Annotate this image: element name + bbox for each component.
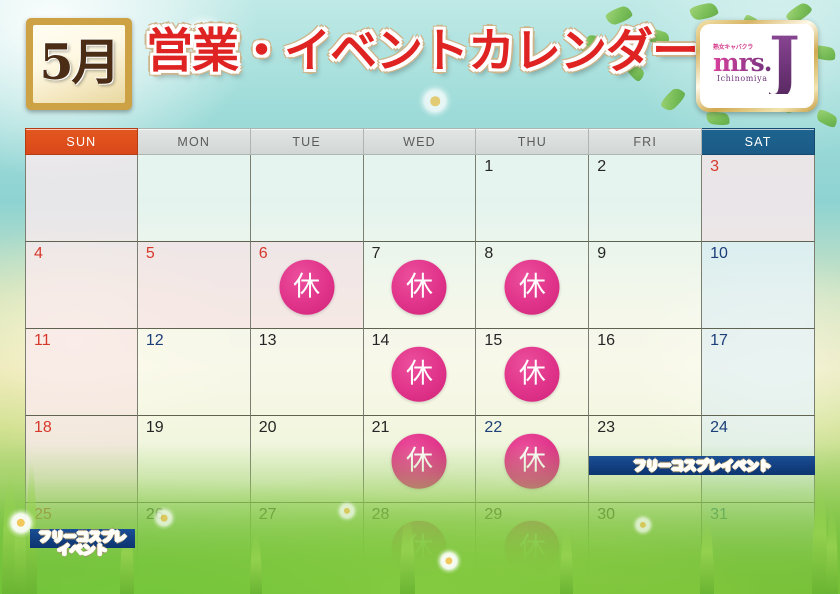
closed-day-badge: 休 xyxy=(505,260,560,315)
calendar-day-9[interactable]: 9 xyxy=(589,242,702,329)
logo-city-label: Ichinomiya xyxy=(713,74,771,83)
calendar-day-12[interactable]: 12 xyxy=(138,329,251,416)
day-number: 22 xyxy=(484,420,502,436)
logo-wordmark: mrs. xyxy=(713,51,771,75)
day-number: 23 xyxy=(597,420,615,436)
brand-logo[interactable]: J 熟女キャバクラ mrs. Ichinomiya xyxy=(696,20,818,112)
day-number: 14 xyxy=(372,333,390,349)
weekday-header-tue: TUE xyxy=(251,128,364,155)
event-banner[interactable]: フリーコスプレイベント xyxy=(589,456,815,475)
event-banner-label-line2: イベント xyxy=(30,543,135,556)
calendar-day-6[interactable]: 6休 xyxy=(251,242,364,329)
calendar-day-10[interactable]: 10 xyxy=(702,242,815,329)
weekday-header-fri: FRI xyxy=(589,128,702,155)
calendar-day-8[interactable]: 8休 xyxy=(476,242,589,329)
closed-day-badge: 休 xyxy=(392,260,447,315)
calendar-day-5[interactable]: 5 xyxy=(138,242,251,329)
calendar-day-3[interactable]: 3 xyxy=(702,155,815,242)
day-number: 10 xyxy=(710,246,728,262)
daisy-flower xyxy=(436,548,462,574)
weekday-header-mon: MON xyxy=(138,128,251,155)
calendar-day-13[interactable]: 13 xyxy=(251,329,364,416)
day-number: 6 xyxy=(259,246,268,262)
event-banner-label: フリーコスプレイベント xyxy=(634,459,772,472)
day-number: 16 xyxy=(597,333,615,349)
weekday-header-wed: WED xyxy=(364,128,477,155)
day-number: 20 xyxy=(259,420,277,436)
day-number: 8 xyxy=(484,246,493,262)
closed-day-badge: 休 xyxy=(392,347,447,402)
day-number: 7 xyxy=(372,246,381,262)
calendar-day-17[interactable]: 17 xyxy=(702,329,815,416)
calendar-day-15[interactable]: 15休 xyxy=(476,329,589,416)
header: 5月 営業・イベントカレンダー J 熟女キャバクラ mrs. Ichinomiy… xyxy=(0,0,840,130)
calendar-day-empty xyxy=(251,155,364,242)
weekday-header-thu: THU xyxy=(476,128,589,155)
daisy-flower xyxy=(632,514,654,536)
calendar-day-7[interactable]: 7休 xyxy=(364,242,477,329)
day-number: 19 xyxy=(146,420,164,436)
day-number: 2 xyxy=(597,159,606,175)
day-number: 24 xyxy=(710,420,728,436)
calendar-day-2[interactable]: 2 xyxy=(589,155,702,242)
calendar-page: 5月 営業・イベントカレンダー J 熟女キャバクラ mrs. Ichinomiy… xyxy=(0,0,840,594)
closed-day-badge: 休 xyxy=(279,260,334,315)
logo-initial-j: J xyxy=(769,28,800,94)
month-badge: 5月 xyxy=(26,18,132,110)
weekday-header-sat: SAT xyxy=(702,128,815,155)
calendar-day-empty xyxy=(138,155,251,242)
day-number: 15 xyxy=(484,333,502,349)
calendar-day-empty xyxy=(25,155,138,242)
day-number: 3 xyxy=(710,159,719,175)
day-number: 4 xyxy=(34,246,43,262)
closed-day-label: 休 xyxy=(293,274,320,301)
day-number: 11 xyxy=(34,333,51,349)
calendar-day-4[interactable]: 4 xyxy=(25,242,138,329)
day-number: 1 xyxy=(484,159,493,175)
day-number: 5 xyxy=(146,246,155,262)
closed-day-label: 休 xyxy=(519,361,546,388)
daisy-flower xyxy=(152,506,176,530)
event-banner-label: フリーコスプレイベント xyxy=(30,530,135,556)
daisy-flower xyxy=(336,500,358,522)
day-number: 9 xyxy=(597,246,606,262)
closed-day-label: 休 xyxy=(406,361,433,388)
calendar-day-11[interactable]: 11 xyxy=(25,329,138,416)
page-title: 営業・イベントカレンダー xyxy=(146,26,698,78)
day-number: 18 xyxy=(34,420,52,436)
event-banner[interactable]: フリーコスプレイベント xyxy=(30,529,135,548)
calendar-day-14[interactable]: 14休 xyxy=(364,329,477,416)
month-label: 5月 xyxy=(39,38,118,91)
calendar-day-empty xyxy=(364,155,477,242)
day-number: 21 xyxy=(372,420,390,436)
day-number: 17 xyxy=(710,333,728,349)
calendar-day-16[interactable]: 16 xyxy=(589,329,702,416)
day-number: 13 xyxy=(259,333,277,349)
calendar-day-1[interactable]: 1 xyxy=(476,155,589,242)
weekday-header-row: SUN MON TUE WED THU FRI SAT xyxy=(25,128,815,155)
closed-day-badge: 休 xyxy=(505,347,560,402)
weekday-header-sun: SUN xyxy=(25,128,138,155)
day-number: 12 xyxy=(146,333,164,349)
closed-day-label: 休 xyxy=(519,274,546,301)
closed-day-label: 休 xyxy=(406,274,433,301)
